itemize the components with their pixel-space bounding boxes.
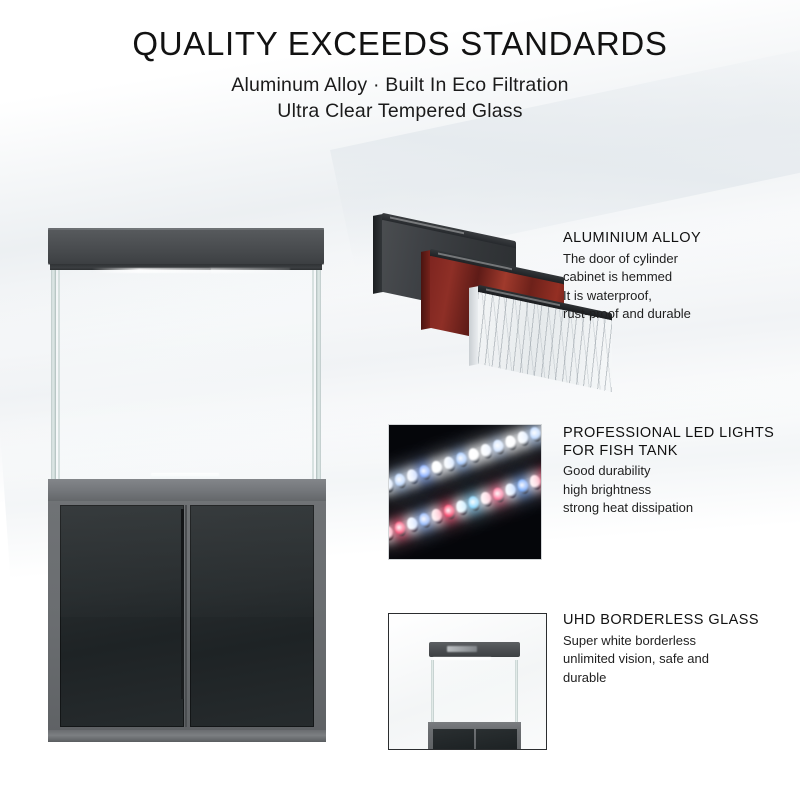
feature-professional-led-lights: PROFESSIONAL LED LIGHTS FOR FISH TANK Go… — [563, 425, 799, 518]
thumbnail-glass-edge-right — [515, 660, 518, 722]
led-strips-container — [389, 425, 541, 559]
subtitle-line-1: Aluminum Alloy · Built In Eco Filtration — [0, 73, 800, 99]
tempered-glass-body — [51, 270, 321, 480]
feature-uhd-borderless-glass: UHD BORDERLESS GLASS Super white borderl… — [563, 612, 799, 687]
feature-body: Super white borderless unlimited vision,… — [563, 632, 799, 687]
borderless-glass-tank-thumbnail — [388, 613, 547, 750]
feature-title: UHD BORDERLESS GLASS — [563, 612, 799, 630]
glass-edge-right — [316, 270, 321, 480]
cabinet-top-panel — [48, 479, 326, 501]
cabinet-door-right — [190, 505, 314, 727]
infographic-canvas: QUALITY EXCEEDS STANDARDS Aluminum Alloy… — [0, 0, 800, 800]
feature-body: Good durability high brightness strong h… — [563, 462, 799, 517]
glass-edge-left — [51, 270, 56, 480]
thumbnail-cabinet-door-right — [476, 729, 517, 749]
tank-hood — [48, 228, 324, 264]
cabinet-door-gap — [185, 505, 187, 727]
glass-inner-edge-left — [58, 270, 60, 480]
cabinet-stand — [48, 479, 326, 742]
thumbnail-cabinet-door-left — [433, 729, 474, 749]
page-title: QUALITY EXCEEDS STANDARDS — [0, 26, 800, 63]
aquarium-product-image — [44, 228, 330, 746]
feature-title: ALUMINIUM ALLOY — [563, 230, 795, 248]
thumbnail-cabinet — [428, 722, 521, 749]
subtitle-line-2: Ultra Clear Tempered Glass — [0, 99, 800, 125]
header-block: QUALITY EXCEEDS STANDARDS Aluminum Alloy… — [0, 26, 800, 124]
thumbnail-glass-body — [431, 660, 518, 722]
cabinet-door-left — [60, 505, 184, 727]
glass-inner-edge-right — [312, 270, 314, 480]
thumbnail-glass-edge-left — [431, 660, 434, 722]
glass-pane — [51, 270, 321, 480]
door-reflection-left — [60, 505, 184, 617]
feature-aluminium-alloy: ALUMINIUM ALLOY The door of cylinder cab… — [563, 230, 795, 324]
brand-logo-mark — [447, 646, 477, 652]
feature-body: The door of cylinder cabinet is hemmed I… — [563, 250, 795, 324]
led-light-strips-photo — [388, 424, 542, 560]
feature-title: PROFESSIONAL LED LIGHTS FOR FISH TANK — [563, 425, 799, 460]
door-reflection-right — [190, 505, 314, 617]
thumbnail-glass-pane — [434, 660, 515, 722]
cabinet-door-handle — [181, 509, 184, 699]
cabinet-base-plinth — [48, 730, 326, 742]
alloy-cabinet-door-panels — [378, 218, 554, 380]
